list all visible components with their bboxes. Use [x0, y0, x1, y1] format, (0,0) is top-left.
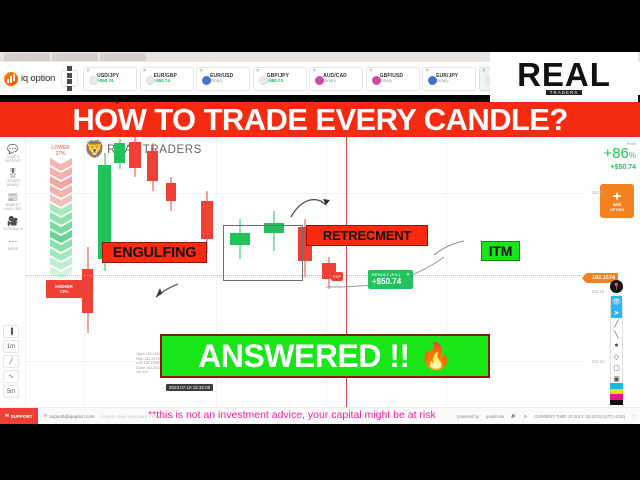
close-icon[interactable]: ✕ [199, 69, 203, 74]
left-sidebar: 💬 CHAT & SUPPORT 🎖 LEADER BOARD 📰 MARKET… [0, 137, 26, 407]
sidebar-item-leaderboard[interactable]: 🎖 LEADER BOARD [0, 165, 26, 189]
asset-tab-sub: +$50.74 [267, 79, 289, 84]
sidebar-item-label2: SUPPORT [0, 159, 26, 163]
iq-asset-icon [89, 76, 98, 85]
sentiment-higher-tag: HIGHER 73% [46, 280, 82, 298]
real-brand-overlay: REAL TRADERS [490, 52, 638, 102]
draw-tool-icon[interactable]: ╱ [3, 355, 19, 368]
ohlc-timestamp: 2023.07.10 15:32:00 [166, 384, 213, 391]
sentiment-gauge: LOWER 27% [48, 145, 73, 291]
headline-text: HOW TO TRADE EVERY CANDLE? [72, 102, 567, 138]
iq-option-logo-text: iq option [21, 73, 55, 84]
close-icon[interactable]: ✕ [312, 69, 316, 74]
gridline [26, 277, 582, 278]
price-axis-tick: 182.10 [591, 359, 604, 364]
candle-bullish [114, 139, 125, 169]
annotation-retrecment: RETRECMENT [306, 225, 428, 246]
sidebar-item-market-analysis[interactable]: 📰 MARKET ANALYSIS [0, 189, 26, 213]
chat-bubble-icon: ✉ [5, 413, 9, 419]
sidebar-item-label: MORE [0, 247, 26, 251]
profit-percent: +86% [584, 146, 636, 164]
blue-asset-icon [202, 76, 211, 85]
shape-tool-icon[interactable]: ◇ [611, 351, 622, 362]
selection-rectangle[interactable] [223, 225, 303, 281]
price-axis-tick: 182.15 [591, 289, 604, 294]
sentiment-chevrons [50, 158, 72, 286]
leaderboard-icon: 🎖 [0, 168, 26, 179]
market-analysis-icon: 📰 [0, 192, 26, 203]
blue-asset-icon [428, 76, 437, 85]
sidebar-item-label2: BOARD [0, 183, 26, 187]
asset-tabs: ✕ USD/JPY +$50.74 ✕ EUR/GBP +$50.74 ✕ [83, 67, 548, 91]
chat-icon: 💬 [0, 144, 26, 155]
support-button[interactable]: ✉ SUPPORT [0, 408, 38, 425]
brand-name: REAL [517, 59, 611, 90]
drawing-toolbar: 👁 ➤ ╱ ╲ ● ◇ ▢ ▣ [610, 294, 623, 386]
answered-banner: ANSWERED !! 🔥 [160, 334, 490, 378]
pink-asset-icon [315, 76, 324, 85]
close-icon[interactable]: ✕ [425, 69, 429, 74]
new-option-button[interactable]: + NEW OPTION [600, 184, 634, 218]
indicator-icon[interactable]: ∿ [3, 370, 19, 383]
support-email[interactable]: ✉ support@iqoption.com [44, 413, 95, 419]
candle-bearish [166, 177, 176, 211]
plus-icon: + [613, 190, 622, 203]
tutorials-icon: 🎥 [0, 216, 26, 227]
answered-text: ANSWERED !! [198, 338, 409, 375]
sidebar-item-label2: ANALYSIS [0, 207, 26, 211]
iq-option-logo-icon [4, 72, 18, 86]
support-label: SUPPORT [11, 414, 33, 419]
duration-icon[interactable]: 5m [3, 385, 19, 398]
fire-emoji-icon: 🔥 [420, 341, 452, 372]
profit-amount: +$50.74 [584, 164, 636, 171]
asset-tab-sub: +$50.74 [97, 79, 119, 84]
expiry-marker: EXP [331, 272, 343, 281]
grid-icon[interactable] [61, 70, 78, 87]
fullscreen-icon[interactable]: ⛶ [632, 414, 635, 419]
mouse-cursor: ➜ [112, 96, 120, 107]
asset-tab-eurusd[interactable]: ✕ EUR/USD Binary [196, 67, 250, 91]
support-email-text: support@iqoption.com [49, 414, 94, 419]
letterbox-bottom [0, 424, 640, 480]
asset-tab-sub: Binary [323, 79, 347, 84]
candle-bearish [147, 143, 158, 191]
dot-tool-icon[interactable]: ● [611, 340, 622, 351]
asset-tab-sub: Binary [380, 79, 403, 84]
risk-disclaimer: **this is not an investment advice, your… [148, 407, 568, 423]
cursor-icon[interactable]: ➤ [611, 307, 622, 318]
trash-icon[interactable]: ▢ [611, 362, 622, 373]
screenshot-root: iq option ✕ USD/JPY +$50.74 ✕ EUR/GBP +$… [0, 0, 640, 480]
profit-block: Profit +86% +$50.74 [584, 141, 636, 171]
chart-tool-buttons: ▐ 1m ╱ ∿ 5m [3, 325, 23, 400]
result-pl-box[interactable]: ✕ RESULT (P/L) +$50.74 [368, 270, 413, 289]
asset-tab-eurgbp[interactable]: ✕ EUR/GBP +$50.74 [140, 67, 194, 91]
candles-icon[interactable]: ▐ [3, 325, 19, 338]
annotation-itm: ITM [481, 241, 520, 261]
iq-option-logo[interactable]: iq option [4, 72, 55, 86]
asset-tab-sub: Binary [210, 79, 233, 84]
sentiment-bar [50, 158, 72, 291]
headline-banner: HOW TO TRADE EVERY CANDLE? [0, 102, 640, 137]
eye-icon[interactable]: 👁 [611, 296, 622, 307]
sidebar-item-label: TUTORIALS [0, 227, 26, 231]
asset-tab-audcad[interactable]: ✕ AUD/CAD Binary [309, 67, 363, 91]
mail-icon: ✉ [44, 413, 48, 419]
close-icon[interactable]: ✕ [482, 69, 486, 74]
close-icon[interactable]: ✕ [406, 272, 410, 278]
sentiment-lower-value: 27% [48, 151, 73, 157]
iq-asset-icon [259, 76, 268, 85]
sidebar-item-chat-support[interactable]: 💬 CHAT & SUPPORT [0, 141, 26, 165]
sentiment-higher-value: 73% [59, 289, 68, 294]
more-icon: ⋯ [0, 236, 26, 247]
pin-icon[interactable]: 📍 [610, 280, 623, 293]
timeframe-icon[interactable]: 1m [3, 340, 19, 353]
sidebar-item-more[interactable]: ⋯ MORE [0, 233, 26, 253]
asset-tab-gbpusd[interactable]: ✕ GBP/USD Binary [366, 67, 420, 91]
candle-bearish [129, 137, 141, 177]
close-icon[interactable]: ✕ [143, 69, 147, 74]
asset-tab-sub: Binary [436, 79, 458, 84]
entry-price-line [26, 275, 582, 276]
asset-tab-sub: +$50.74 [154, 79, 177, 84]
candle-bearish [82, 247, 93, 333]
iq-asset-icon [146, 76, 155, 85]
line-tool-icon[interactable]: ╱ [611, 318, 622, 329]
right-panel: Profit +86% +$50.74 + NEW OPTION 182.20 … [582, 137, 640, 407]
pink-asset-icon [372, 76, 381, 85]
asset-tab-eurjpy[interactable]: ✕ EUR/JPY Binary [422, 67, 476, 91]
asset-tab-usdjpy[interactable]: ✕ USD/JPY +$50.74 [83, 67, 137, 91]
asset-tab-gbpjpy-1[interactable]: ✕ GBP/JPY +$50.74 [253, 67, 307, 91]
new-option-label2: OPTION [610, 208, 624, 212]
risk-text: this is not an investment advice, your c… [156, 409, 436, 421]
color-swatches[interactable] [610, 383, 623, 405]
close-icon[interactable]: ✕ [256, 69, 260, 74]
close-icon[interactable]: ✕ [86, 69, 90, 74]
price-axis-tick: 182.20 [591, 190, 604, 195]
letterbox-top [0, 0, 640, 52]
risk-asterisks: ** [148, 409, 156, 421]
swatch-black[interactable] [610, 400, 623, 406]
result-value: +$50.74 [372, 277, 401, 286]
annotation-engulfing: ENGULFING [102, 242, 207, 263]
close-icon[interactable]: ✕ [369, 69, 373, 74]
sidebar-item-tutorials[interactable]: 🎥 TUTORIALS [0, 213, 26, 233]
brand-tagline: TRADERS [546, 90, 583, 95]
ray-tool-icon[interactable]: ╲ [611, 329, 622, 340]
